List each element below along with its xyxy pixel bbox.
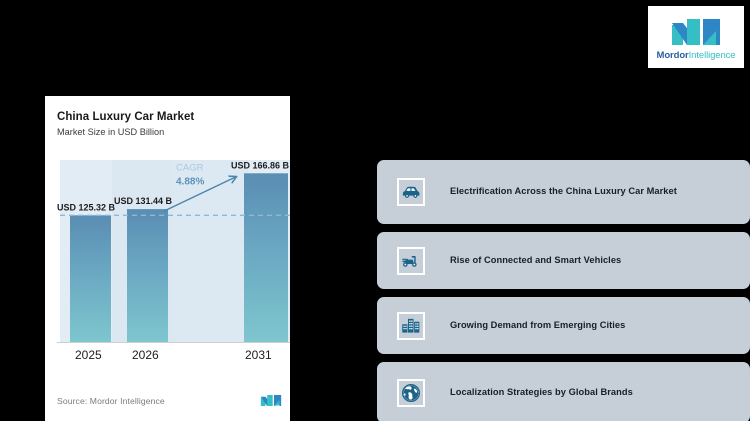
cagr-value: 4.88% [176, 176, 204, 187]
feature-label: Localization Strategies by Global Brands [450, 387, 633, 398]
bar-2025 [70, 215, 111, 342]
x-tick-2025: 2025 [75, 348, 102, 362]
chart-subtitle: Market Size in USD Billion [57, 127, 278, 139]
buildings-icon [397, 312, 425, 340]
mordor-m-logo-mark-small-icon [260, 394, 282, 407]
feature-card-connected-vehicles[interactable]: Rise of Connected and Smart Vehicles [377, 232, 750, 289]
brand-word-intelligence: Intelligence [689, 50, 736, 61]
value-label-2025: USD 125.32 B [57, 202, 116, 212]
x-tick-2031: 2031 [245, 348, 272, 362]
value-label-2026: USD 131.44 B [114, 196, 173, 206]
brand-wordmark: MordorIntelligence [657, 51, 736, 61]
feature-card-localization[interactable]: Localization Strategies by Global Brands [377, 362, 750, 421]
chart-source: Source: Mordor Intelligence [57, 396, 165, 406]
bar-2026 [127, 209, 168, 342]
brand-logo: MordorIntelligence [648, 6, 744, 68]
slide-root: MordorIntelligence China Luxury Car Mark… [0, 0, 750, 421]
car-icon [397, 178, 425, 206]
value-label-2031: USD 166.86 B [231, 160, 290, 170]
chart-footer: Source: Mordor Intelligence [57, 394, 282, 407]
feature-card-list: Electrification Across the China Luxury … [377, 160, 750, 421]
scooter-icon [397, 247, 425, 275]
feature-card-electrification[interactable]: Electrification Across the China Luxury … [377, 160, 750, 224]
feature-label: Growing Demand from Emerging Cities [450, 320, 625, 331]
feature-label: Rise of Connected and Smart Vehicles [450, 255, 621, 266]
feature-card-emerging-cities[interactable]: Growing Demand from Emerging Cities [377, 297, 750, 354]
globe-icon [397, 379, 425, 407]
feature-label: Electrification Across the China Luxury … [450, 186, 677, 197]
chart-card: China Luxury Car Market Market Size in U… [45, 96, 290, 421]
brand-word-mordor: Mordor [657, 50, 689, 61]
cagr-label: CAGR [176, 162, 204, 173]
chart-plot-area: USD 125.32 B USD 131.44 B USD 166.86 B C… [57, 160, 290, 375]
bar-chart-svg: USD 125.32 B USD 131.44 B USD 166.86 B C… [57, 160, 290, 375]
chart-title: China Luxury Car Market [57, 110, 278, 124]
bar-2031 [244, 173, 288, 342]
mordor-m-logo-mark-icon [670, 17, 722, 47]
x-tick-2026: 2026 [132, 348, 159, 362]
